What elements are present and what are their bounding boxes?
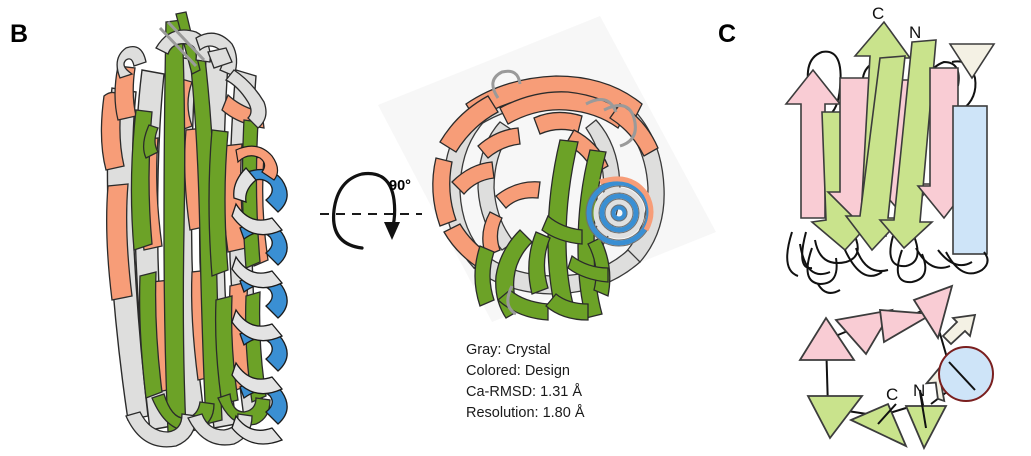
legend-line-colored: Colored: Design [466,361,585,382]
topology-top-strand-green-1 [808,396,862,438]
topology-diagram-top [800,286,993,448]
legend-line-gray: Gray: Crystal [466,340,585,361]
topology-top-strand-cream-arrow-body [943,315,975,344]
rotation-angle-label: 90° [389,178,411,194]
topology-side-c-terminus-label: C [872,4,884,24]
figure-container: B C [0,0,1031,456]
topology-top-helix-blue-circle [939,347,993,401]
rotation-arrow-arc [334,174,395,248]
topology-side-n-terminus-label: N [909,23,921,43]
legend-line-resolution: Resolution: 1.80 Å [466,403,585,424]
rotation-arrow-head [384,222,400,240]
topology-helix-blue [953,106,987,254]
topology-top-c-terminus-label: C [886,385,898,405]
topology-top-n-terminus-label: N [913,381,925,401]
legend-line-rmsd: Ca-RMSD: 1.31 Å [466,382,585,403]
side-view-cartoon [101,12,287,447]
topology-diagram-side [786,22,994,293]
view-legend-text: Gray: Crystal Colored: Design Ca-RMSD: 1… [466,340,585,424]
